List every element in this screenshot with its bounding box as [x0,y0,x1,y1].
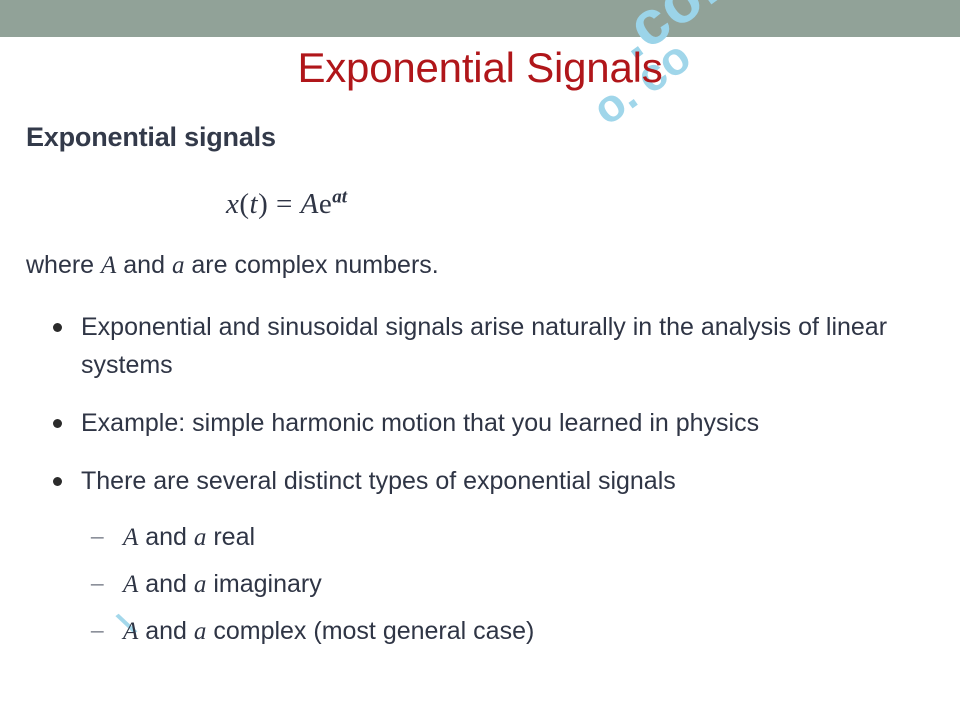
dash-marker-icon: – [91,614,104,648]
sub-bullet-tail: real [206,523,255,551]
equation-equals-sign: = [276,188,293,220]
where-var-A: A [101,252,116,279]
sub-bullet-joiner: and [138,617,194,645]
equation-paren-open: ( [239,188,249,220]
top-banner [0,0,960,37]
sub-bullet-var-a: a [194,524,207,551]
list-item: Example: simple harmonic motion that you… [0,404,960,442]
list-item: There are several distinct types of expo… [0,462,960,500]
bullet-dot-icon [53,419,62,428]
equation-row: x(t) = Aeat [0,180,960,221]
section-heading: Exponential signals [26,120,960,154]
bullet-text: There are several distinct types of expo… [81,467,676,495]
where-suffix: are complex numbers. [184,251,438,279]
sub-bullet-var-a: a [194,618,207,645]
sub-bullet-var-a: a [194,571,207,598]
slide-body: Exponential signals x(t) = Aeat where A … [0,120,960,661]
bullet-list: Exponential and sinusoidal signals arise… [0,308,960,500]
equation-display: x(t) = Aeat [226,188,347,220]
sub-bullet-var-A: A [123,571,138,598]
where-joiner: and [116,251,172,279]
equation-amplitude: A [301,188,319,220]
where-var-a: a [172,252,185,279]
list-item: Exponential and sinusoidal signals arise… [0,308,960,384]
sub-bullet-joiner: and [138,570,194,598]
bullet-text: Example: simple harmonic motion that you… [81,409,759,437]
where-line: where A and a are complex numbers. [26,249,960,282]
slide-canvas: .com o. co \ Exponential Signals Exponen… [0,0,960,720]
dash-marker-icon: – [91,520,104,554]
where-prefix: where [26,251,101,279]
equation-exp-base: e [319,188,332,220]
page-title: Exponential Signals [0,44,960,92]
sub-bullet-joiner: and [138,523,194,551]
bullet-dot-icon [53,323,62,332]
dash-marker-icon: – [91,567,104,601]
sub-bullet-tail: complex (most general case) [206,617,534,645]
sub-list-item: –A and a imaginary [0,567,960,602]
equation-exponent: at [332,186,347,207]
bullet-text: Exponential and sinusoidal signals arise… [81,313,887,379]
equation-lhs-variable: x [226,188,239,220]
sub-bullet-tail: imaginary [206,570,321,598]
sub-bullet-var-A: A [123,524,138,551]
equation-lhs-argument: t [250,188,259,220]
sub-list-item: –A and a complex (most general case) [0,614,960,649]
equation-paren-close: ) [258,188,268,220]
sub-list-item: –A and a real [0,520,960,555]
sub-bullet-var-A: A [123,618,138,645]
bullet-dot-icon [53,477,62,486]
sub-bullet-list: –A and a real –A and a imaginary –A and … [0,520,960,649]
